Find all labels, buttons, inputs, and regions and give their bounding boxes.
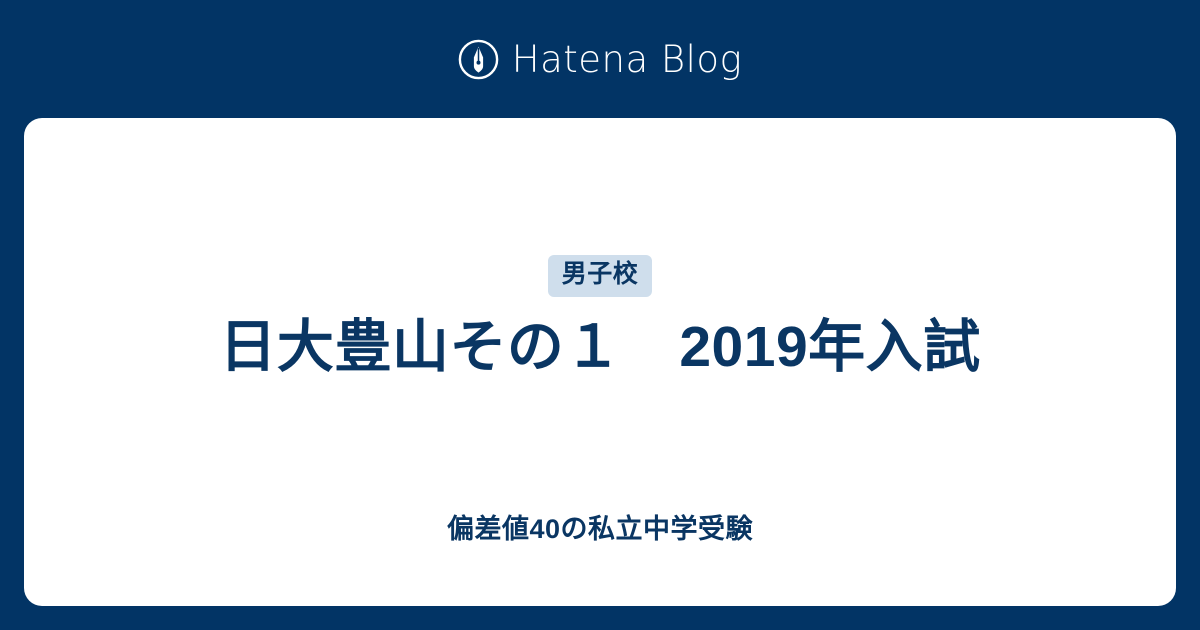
fountain-pen-nib-icon [458, 39, 499, 80]
brand-header: Hatena Blog [0, 0, 1200, 118]
hatena-blog-logo [458, 39, 499, 80]
category-badge-row: 男子校 [24, 255, 1176, 297]
entry-content-card: 男子校 日大豊山その１ 2019年入試 偏差値40の私立中学受験 [24, 118, 1176, 606]
category-badge[interactable]: 男子校 [548, 255, 653, 297]
hatena-blog-wordmark: Hatena Blog [512, 41, 743, 78]
blog-name[interactable]: 偏差値40の私立中学受験 [447, 516, 753, 543]
hatena-blog-share-card: Hatena Blog 男子校 日大豊山その１ 2019年入試 偏差値40の私立… [0, 0, 1200, 630]
blog-name-row: 偏差値40の私立中学受験 [24, 516, 1176, 543]
entry-title-row: 日大豊山その１ 2019年入試 [24, 314, 1176, 381]
entry-title: 日大豊山その１ 2019年入試 [219, 314, 980, 381]
